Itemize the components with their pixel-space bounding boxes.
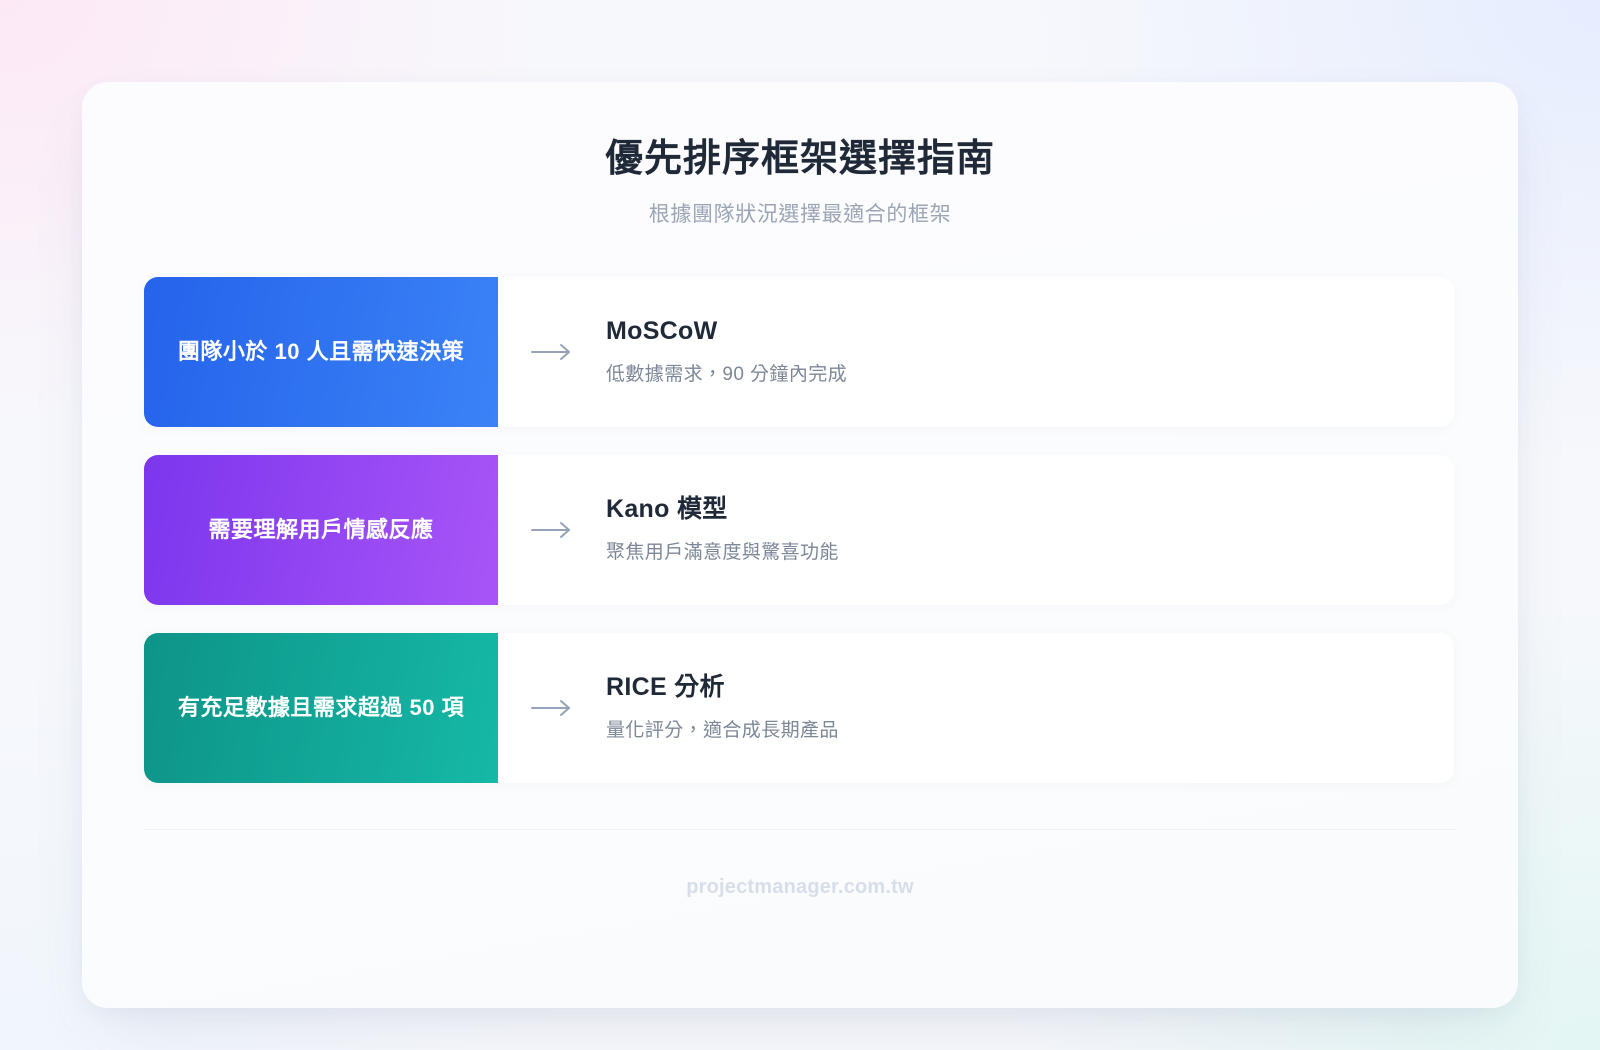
condition-chip: 需要理解用戶情感反應 <box>144 455 498 605</box>
condition-chip: 有充足數據且需求超過 50 項 <box>144 633 498 783</box>
framework-row[interactable]: 團隊小於 10 人且需快速決策 MoSCoW 低數據需求，90 分鐘內完成 <box>144 277 1454 427</box>
framework-info: RICE 分析 量化評分，適合成長期產品 <box>606 633 1454 783</box>
arrow-right-icon <box>530 341 574 363</box>
arrow-cell <box>498 455 606 605</box>
framework-name: RICE 分析 <box>606 671 1430 704</box>
page-title: 優先排序框架選擇指南 <box>82 136 1518 184</box>
footer-divider <box>144 829 1456 830</box>
page-backdrop: 優先排序框架選擇指南 根據團隊狀況選擇最適合的框架 團隊小於 10 人且需快速決… <box>0 0 1600 1050</box>
framework-info: MoSCoW 低數據需求，90 分鐘內完成 <box>606 277 1454 427</box>
framework-description: 量化評分，適合成長期產品 <box>606 718 1430 745</box>
condition-label: 團隊小於 10 人且需快速決策 <box>178 335 464 369</box>
framework-row[interactable]: 需要理解用戶情感反應 Kano 模型 聚焦用戶滿意度與驚喜功能 <box>144 455 1454 605</box>
condition-label: 需要理解用戶情感反應 <box>208 513 433 547</box>
framework-row[interactable]: 有充足數據且需求超過 50 項 RICE 分析 量化評分，適合成長期產品 <box>144 633 1454 783</box>
arrow-right-icon <box>530 697 574 719</box>
framework-list: 團隊小於 10 人且需快速決策 MoSCoW 低數據需求，90 分鐘內完成 需要… <box>82 277 1518 783</box>
framework-name: MoSCoW <box>606 315 1430 348</box>
framework-description: 低數據需求，90 分鐘內完成 <box>606 362 1430 389</box>
framework-description: 聚焦用戶滿意度與驚喜功能 <box>606 540 1430 567</box>
card-footer: projectmanager.com.tw <box>82 876 1518 899</box>
framework-info: Kano 模型 聚焦用戶滿意度與驚喜功能 <box>606 455 1454 605</box>
condition-chip: 團隊小於 10 人且需快速決策 <box>144 277 498 427</box>
card-header: 優先排序框架選擇指南 根據團隊狀況選擇最適合的框架 <box>82 82 1518 229</box>
page-subtitle: 根據團隊狀況選擇最適合的框架 <box>82 200 1518 229</box>
arrow-right-icon <box>530 519 574 541</box>
condition-label: 有充足數據且需求超過 50 項 <box>178 691 464 725</box>
arrow-cell <box>498 277 606 427</box>
main-card: 優先排序框架選擇指南 根據團隊狀況選擇最適合的框架 團隊小於 10 人且需快速決… <box>82 82 1518 1008</box>
footer-site-link[interactable]: projectmanager.com.tw <box>686 876 914 898</box>
arrow-cell <box>498 633 606 783</box>
framework-name: Kano 模型 <box>606 493 1430 526</box>
